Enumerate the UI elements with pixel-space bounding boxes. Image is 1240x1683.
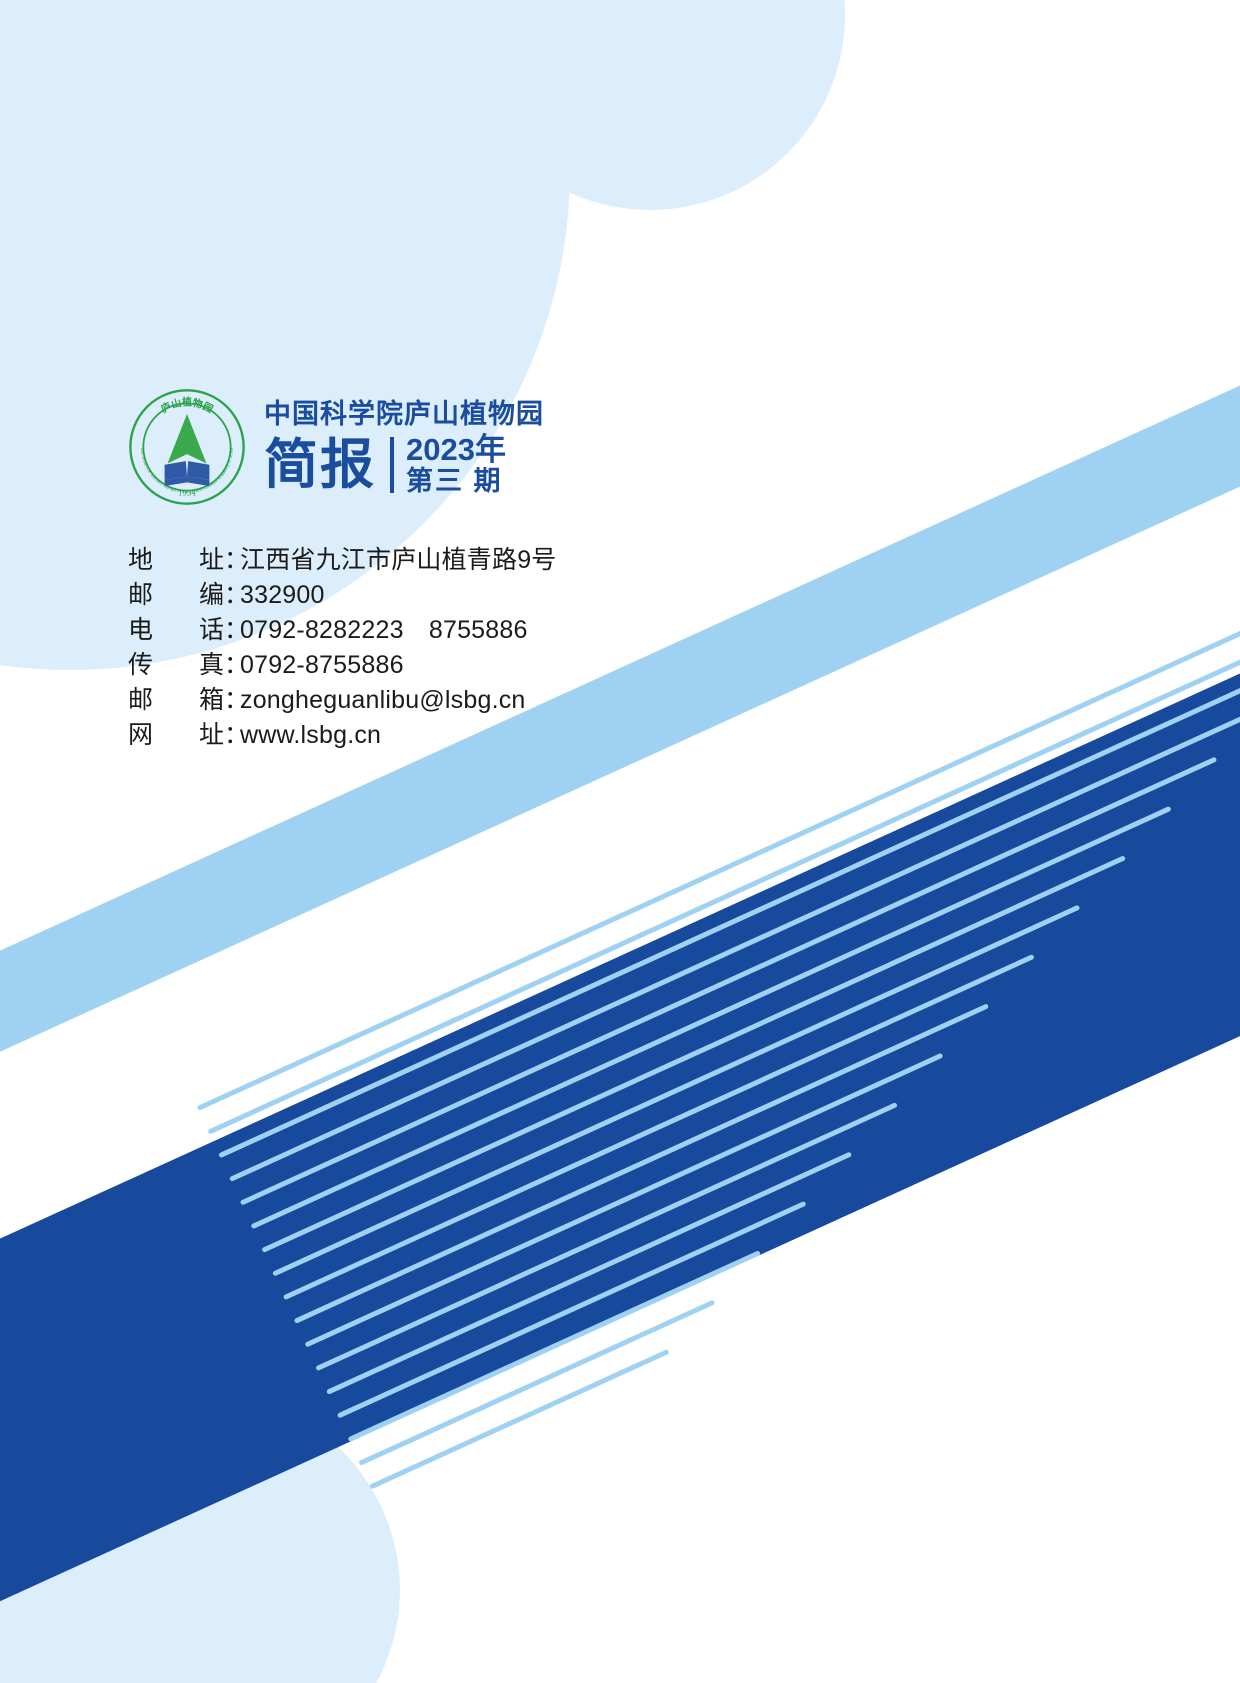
issue-year: 2023年 [406, 434, 506, 466]
contact-label-char-1: 传 [128, 651, 153, 679]
contact-label: 电话： [128, 613, 240, 648]
diagonal-stripe [250, 806, 1171, 1229]
diagonal-stripe [369, 1349, 670, 1490]
contact-row: 传真：0792-8755886 [128, 648, 557, 683]
diagonal-stripe [326, 1151, 852, 1394]
contact-label: 地址： [128, 543, 240, 578]
contact-value: 332900 [240, 578, 325, 613]
contact-label: 邮编： [128, 578, 240, 613]
publication-row: 简报 2023年 第三 期 [264, 434, 544, 495]
lsbg-logo: 庐山植物园 Lushan Botanical Garden, Jiangxi P… [128, 388, 246, 506]
diagonal-stripe [315, 1102, 898, 1371]
diagonal-stripe [272, 905, 1080, 1277]
issue-block: 2023年 第三 期 [406, 434, 506, 495]
contact-label-char-2: 箱 [199, 686, 224, 714]
contact-row: 地址：江西省九江市庐山植青路9号 [128, 543, 557, 578]
diagonal-stripe [358, 1300, 715, 1466]
contact-row: 网址：www.lsbg.cn [128, 718, 557, 753]
issue-number: 第三 期 [406, 468, 506, 496]
contact-label-char-2: 址 [199, 546, 224, 574]
logo-emblem-icon: 庐山植物园 Lushan Botanical Garden, Jiangxi P… [128, 388, 246, 506]
logo-founded-year: 1934 [178, 488, 197, 497]
logo-arc-top-text: 庐山植物园 [159, 396, 215, 416]
diagonal-stripe [240, 756, 1218, 1205]
contact-label: 网址： [128, 718, 240, 753]
contact-label-char-2: 编 [199, 581, 224, 609]
diagonal-stripe [304, 1053, 943, 1348]
contact-label-char-1: 电 [128, 616, 153, 644]
diagonal-stripe [283, 954, 1035, 1300]
contact-value: www.lsbg.cn [240, 718, 381, 753]
page-root: 庐山植物园 Lushan Botanical Garden, Jiangxi P… [0, 0, 1240, 1683]
contact-row: 邮编：332900 [128, 578, 557, 613]
masthead-divider [390, 437, 394, 493]
contact-label: 邮箱： [128, 683, 240, 718]
contact-label: 传真： [128, 648, 240, 683]
masthead-title-block: 中国科学院庐山植物园 简报 2023年 第三 期 [264, 399, 544, 495]
contact-value: 江西省九江市庐山植青路9号 [240, 543, 557, 578]
contact-label-char-2: 真 [199, 651, 224, 679]
masthead: 庐山植物园 Lushan Botanical Garden, Jiangxi P… [128, 388, 544, 506]
contact-value: zongheguanlibu@lsbg.cn [240, 683, 526, 718]
diagonal-stripe [229, 707, 1240, 1182]
contact-label-char-1: 邮 [128, 581, 153, 609]
contact-label-char-1: 邮 [128, 686, 153, 714]
contact-label-char-1: 地 [128, 546, 153, 574]
decorative-circle-small [455, 0, 845, 210]
publication-title: 简报 [264, 438, 376, 492]
contact-row: 邮箱：zongheguanlibu@lsbg.cn [128, 683, 557, 718]
contact-label-char-1: 网 [128, 721, 153, 749]
diagonal-stripe [261, 855, 1126, 1253]
svg-text:庐山植物园: 庐山植物园 [159, 396, 215, 416]
decorative-circle-bottom-left [0, 1380, 400, 1683]
background-decoration [0, 0, 1240, 1683]
contact-value: 0792-8755886 [240, 648, 404, 683]
diagonal-stripe [337, 1201, 807, 1419]
diagonal-stripe [348, 1250, 761, 1442]
contact-label-char-2: 话 [199, 616, 224, 644]
contact-label-char-2: 址 [199, 721, 224, 749]
contact-row: 电话：0792-8282223 8755886 [128, 613, 557, 648]
contact-value: 0792-8282223 8755886 [240, 613, 528, 648]
diagonal-stripe [294, 1003, 989, 1324]
organization-name: 中国科学院庐山植物园 [264, 399, 544, 430]
contact-info-list: 地址：江西省九江市庐山植青路9号邮编：332900电话：0792-8282223… [128, 543, 557, 753]
